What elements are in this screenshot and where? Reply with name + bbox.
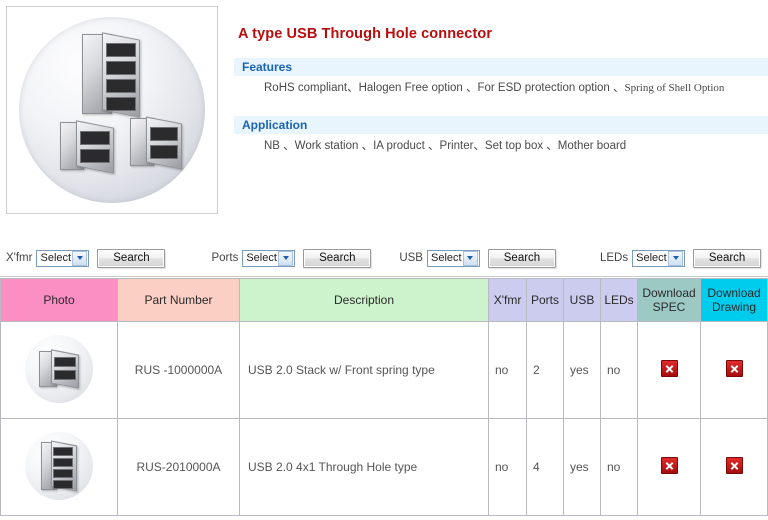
filter-bar: X'fmr Select Search Ports Select Search … [0, 243, 768, 273]
hero-photo [10, 10, 214, 210]
product-overview: A type USB Through Hole connector Featur… [0, 0, 768, 214]
application-heading: Application [234, 116, 768, 134]
search-button-ports[interactable]: Search [303, 249, 371, 268]
cell-usb: yes [564, 419, 601, 516]
column-header-part-number: Part Number [118, 279, 240, 322]
table-row: RUS-2010000A USB 2.0 4x1 Through Hole ty… [1, 419, 768, 516]
cell-download-drawing[interactable] [701, 419, 768, 516]
filter-label-xfmr: X'fmr [6, 252, 32, 264]
chevron-down-icon[interactable] [72, 251, 87, 266]
download-drawing-line1: Download [702, 286, 766, 300]
features-text: RoHS compliant、Halogen Free option 、For … [264, 82, 625, 94]
broken-image-icon[interactable] [726, 360, 743, 377]
cell-leds: no [601, 322, 638, 419]
features-body: RoHS compliant、Halogen Free option 、For … [234, 76, 768, 102]
search-button-leds[interactable]: Search [693, 249, 761, 268]
page-title: A type USB Through Hole connector [238, 26, 768, 42]
cell-download-drawing[interactable] [701, 322, 768, 419]
cell-download-spec[interactable] [638, 322, 701, 419]
features-text-small: Spring of Shell Option [625, 82, 725, 94]
filter-select-ports[interactable]: Select [242, 250, 295, 267]
connector-port [80, 131, 110, 145]
filter-group-leds: LEDs Select Search [600, 249, 761, 268]
section-gap [234, 102, 768, 114]
filter-select-value-usb: Select [431, 252, 462, 264]
cell-ports: 4 [527, 419, 564, 516]
connector-port [106, 43, 136, 57]
chevron-down-icon[interactable] [278, 251, 293, 266]
product-thumbnail[interactable] [25, 432, 93, 500]
cell-xfmr: no [489, 322, 527, 419]
connector-port [106, 79, 136, 93]
column-header-photo: Photo [1, 279, 118, 322]
connector-face-stack2-left [76, 120, 114, 173]
column-header-leds: LEDs [601, 279, 638, 322]
filter-select-leds[interactable]: Select [632, 250, 685, 267]
chevron-down-icon[interactable] [668, 251, 683, 266]
connector-port [106, 61, 136, 75]
cell-part-number: RUS -1000000A [118, 322, 240, 419]
cell-download-spec[interactable] [638, 419, 701, 516]
filter-select-value-ports: Select [246, 252, 277, 264]
filter-group-xfmr: X'fmr Select Search [6, 249, 165, 268]
cell-photo[interactable] [1, 322, 118, 419]
connector-port [106, 97, 136, 111]
filter-select-value-xfmr: Select [40, 252, 71, 264]
cell-photo[interactable] [1, 419, 118, 516]
column-header-ports: Ports [527, 279, 564, 322]
filter-group-usb: USB Select Search [399, 249, 556, 268]
cell-part-number: RUS-2010000A [118, 419, 240, 516]
product-thumbnail[interactable] [25, 335, 93, 403]
table-header-row: Photo Part Number Description X'fmr Port… [1, 279, 768, 322]
cell-description: USB 2.0 Stack w/ Front spring type [240, 322, 489, 419]
cell-leds: no [601, 419, 638, 516]
filter-label-usb: USB [399, 252, 423, 264]
broken-image-icon[interactable] [661, 360, 678, 377]
column-header-download-spec: Download SPEC [638, 279, 701, 322]
filter-select-value-leds: Select [636, 252, 667, 264]
hero-photo-frame [6, 6, 218, 214]
product-page: A type USB Through Hole connector Featur… [0, 0, 768, 520]
cell-description: USB 2.0 4x1 Through Hole type [240, 419, 489, 516]
filter-select-xfmr[interactable]: Select [36, 250, 89, 267]
column-header-usb: USB [564, 279, 601, 322]
connector-face-stack2-right [146, 117, 182, 170]
filter-select-usb[interactable]: Select [427, 250, 480, 267]
column-header-download-drawing: Download Drawing [701, 279, 768, 322]
column-header-xfmr: X'fmr [489, 279, 527, 322]
table-row: RUS -1000000A USB 2.0 Stack w/ Front spr… [1, 322, 768, 419]
download-drawing-line2: Drawing [702, 300, 766, 314]
download-spec-line2: SPEC [639, 300, 699, 314]
chevron-down-icon[interactable] [463, 251, 478, 266]
cell-ports: 2 [527, 322, 564, 419]
application-text: NB 、Work station 、IA product 、Printer、Se… [234, 134, 768, 160]
features-heading: Features [234, 58, 768, 76]
column-header-description: Description [240, 279, 489, 322]
broken-image-icon[interactable] [726, 457, 743, 474]
filter-label-leds: LEDs [600, 252, 628, 264]
broken-image-icon[interactable] [661, 457, 678, 474]
cell-xfmr: no [489, 419, 527, 516]
divider [0, 276, 768, 277]
search-button-xfmr[interactable]: Search [97, 249, 165, 268]
search-button-usb[interactable]: Search [488, 249, 556, 268]
connector-port [150, 127, 178, 141]
filter-group-ports: Ports Select Search [211, 249, 371, 268]
filter-label-ports: Ports [211, 252, 238, 264]
cell-usb: yes [564, 322, 601, 419]
connector-port [80, 149, 110, 163]
download-spec-line1: Download [639, 286, 699, 300]
product-table: Photo Part Number Description X'fmr Port… [0, 278, 768, 516]
product-info: A type USB Through Hole connector Featur… [218, 6, 768, 160]
connector-port [150, 145, 178, 159]
